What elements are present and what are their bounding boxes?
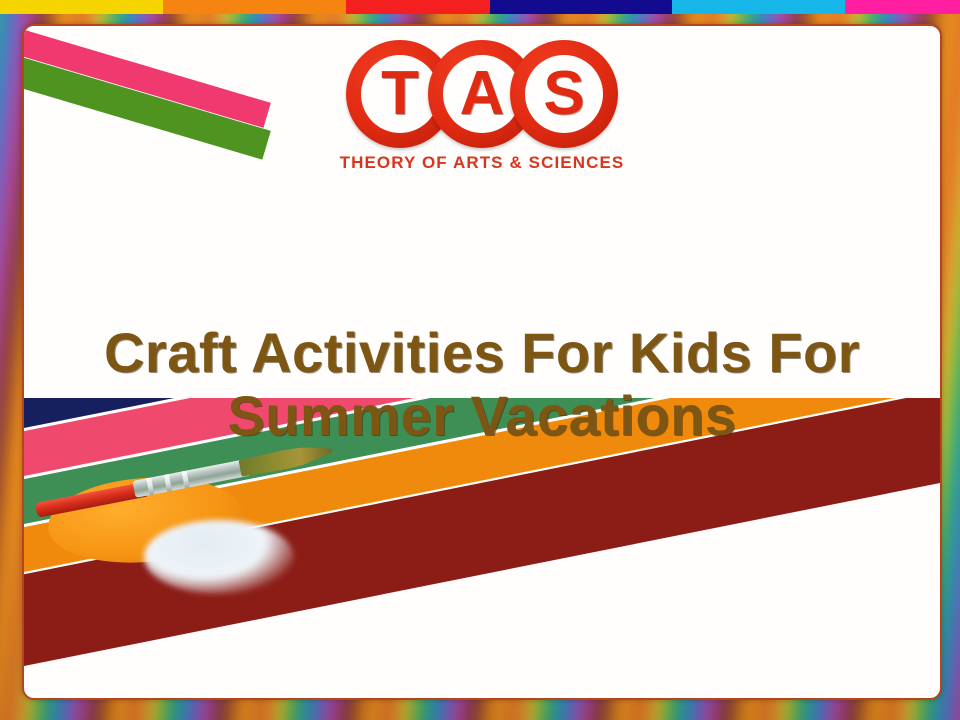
logo-letter-t: T <box>381 63 419 125</box>
logo-letter-s: S <box>543 63 584 125</box>
cyan-block <box>672 0 845 14</box>
ferrule-ring <box>182 471 190 489</box>
ferrule-ring <box>146 477 154 495</box>
paint-shadow <box>144 520 294 594</box>
orange-block <box>163 0 345 14</box>
tas-logo: T A S THEORY OF ARTS & SCIENCES <box>337 40 627 173</box>
slide-title-line-1: Craft Activities For Kids For <box>64 322 900 385</box>
navy-block <box>490 0 672 14</box>
brush-ferrule <box>132 459 251 498</box>
logo-tagline: THEORY OF ARTS & SCIENCES <box>337 153 627 173</box>
logo-rings: T A S <box>346 40 618 150</box>
red-block <box>346 0 490 14</box>
slide-card: T A S THEORY OF ARTS & SCIENCES Craft Ac… <box>22 24 942 700</box>
logo-ring-s: S <box>510 40 618 148</box>
paintbrush-illustration <box>34 452 364 642</box>
magenta-block <box>845 0 960 14</box>
slide-stage: T A S THEORY OF ARTS & SCIENCES Craft Ac… <box>0 0 960 720</box>
slide-title-line-2: Summer Vacations <box>64 385 900 448</box>
logo-letter-a: A <box>460 63 505 125</box>
top-color-bar <box>0 0 960 14</box>
ferrule-ring <box>164 474 172 492</box>
yellow-block <box>0 0 163 14</box>
slide-title: Craft Activities For Kids For Summer Vac… <box>24 322 940 447</box>
